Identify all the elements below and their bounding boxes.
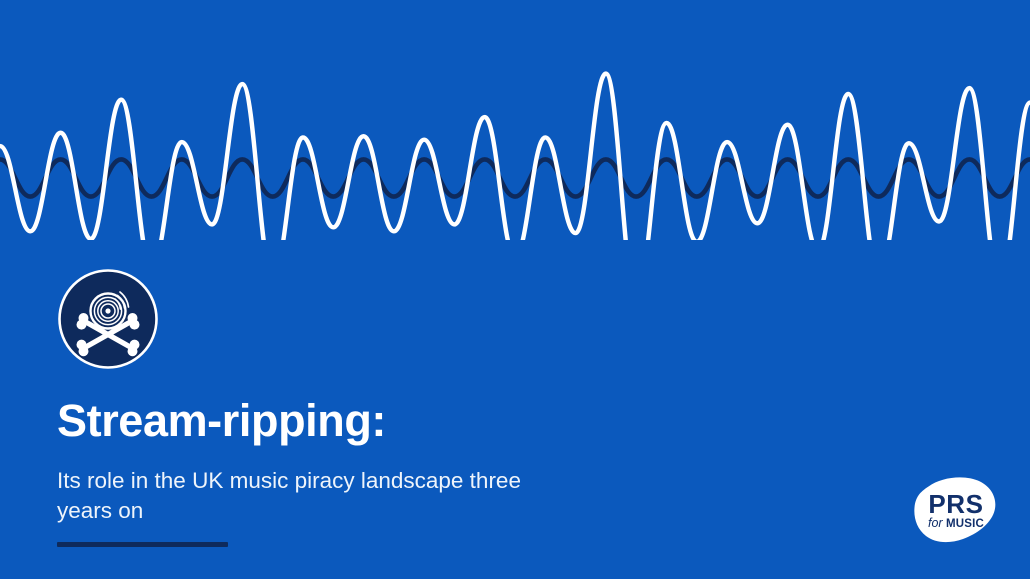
- title-underline-rule: [57, 542, 228, 547]
- prs-for-music-logo: PRS for MUSIC: [908, 473, 1004, 545]
- waveform-decoration: [0, 0, 1030, 240]
- logo-secondary-text: for MUSIC: [928, 516, 984, 530]
- badge-circle: [60, 271, 157, 368]
- signal-wave-path: [0, 74, 1030, 240]
- page-subtitle: Its role in the UK music piracy landscap…: [57, 446, 557, 526]
- hero-text-block: Stream-ripping: Its role in the UK music…: [57, 396, 677, 547]
- logo-primary-text: PRS: [928, 489, 983, 519]
- stream-ripping-piracy-badge: [57, 268, 159, 370]
- carrier-wave-path: [0, 159, 1030, 196]
- page-title: Stream-ripping:: [57, 396, 677, 446]
- stream-ripping-report-cover: Stream-ripping: Its role in the UK music…: [0, 0, 1030, 579]
